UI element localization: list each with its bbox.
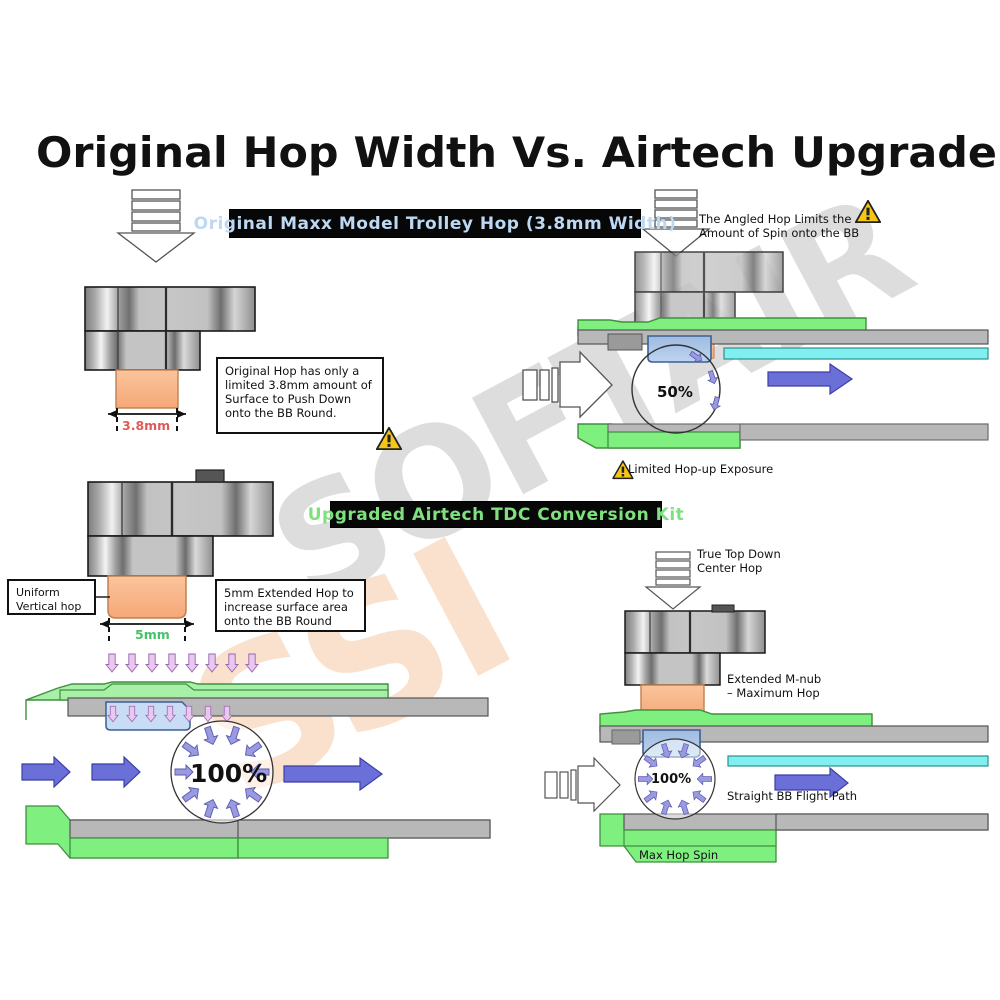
spin-percent-50: 50% <box>657 383 693 401</box>
label-angled-hop-limits: The Angled Hop Limits the Amount of Spin… <box>699 198 864 240</box>
bb-flight-path-bar-right <box>728 756 988 766</box>
down-pressure-arrow-icon-br <box>646 552 700 609</box>
page-title: Original Hop Width Vs. Airtech Upgrade K… <box>36 128 985 177</box>
bb-travel-arrow <box>768 364 852 394</box>
label-extended-m-nub: Extended M-nub – Maximum Hop <box>727 672 877 700</box>
spin-percent-100-right: 100% <box>651 772 691 787</box>
uniform-pressure-arrows-outer <box>106 654 258 672</box>
diagram-canvas: SOFTAIR SSI <box>0 0 1000 1000</box>
label-true-top-down: True Top Down Center Hop <box>697 547 837 575</box>
upgraded-hop-unit-right <box>625 605 765 718</box>
extended-nub <box>108 576 186 618</box>
callout-extended-5mm: 5mm Extended Hop to increase surface are… <box>215 579 366 632</box>
dimension-label-5mm: 5mm <box>135 627 170 642</box>
label-max-hop-spin: Max Hop Spin <box>639 848 718 862</box>
right-feed-arrow-icon-tr <box>523 352 612 417</box>
callout-original-hop: Original Hop has only a limited 3.8mm am… <box>216 357 384 434</box>
dimension-label-3-8mm: 3.8mm <box>122 418 170 433</box>
right-feed-arrow-icon-br <box>545 758 620 811</box>
label-straight-flight-path: Straight BB Flight Path <box>727 789 857 803</box>
banner-original-hop: Original Maxx Model Trolley Hop (3.8mm W… <box>229 209 641 238</box>
callout-original-hop-text: Original Hop has only a limited 3.8mm am… <box>225 364 372 420</box>
original-barrel-assembly <box>578 318 988 448</box>
down-pressure-arrow-icon-tl <box>118 190 194 262</box>
banner-upgraded-kit: Upgraded Airtech TDC Conversion Kit <box>330 501 662 528</box>
label-limited-exposure: Limited Hop-up Exposure <box>628 462 773 476</box>
bb-flight-path-bar <box>724 348 988 359</box>
spin-percent-100-left: 100% <box>190 759 267 788</box>
label-angled-hop-text: The Angled Hop Limits the Amount of Spin… <box>699 212 859 240</box>
callout-uniform-vertical-hop: Uniform Vertical hop <box>7 579 96 615</box>
